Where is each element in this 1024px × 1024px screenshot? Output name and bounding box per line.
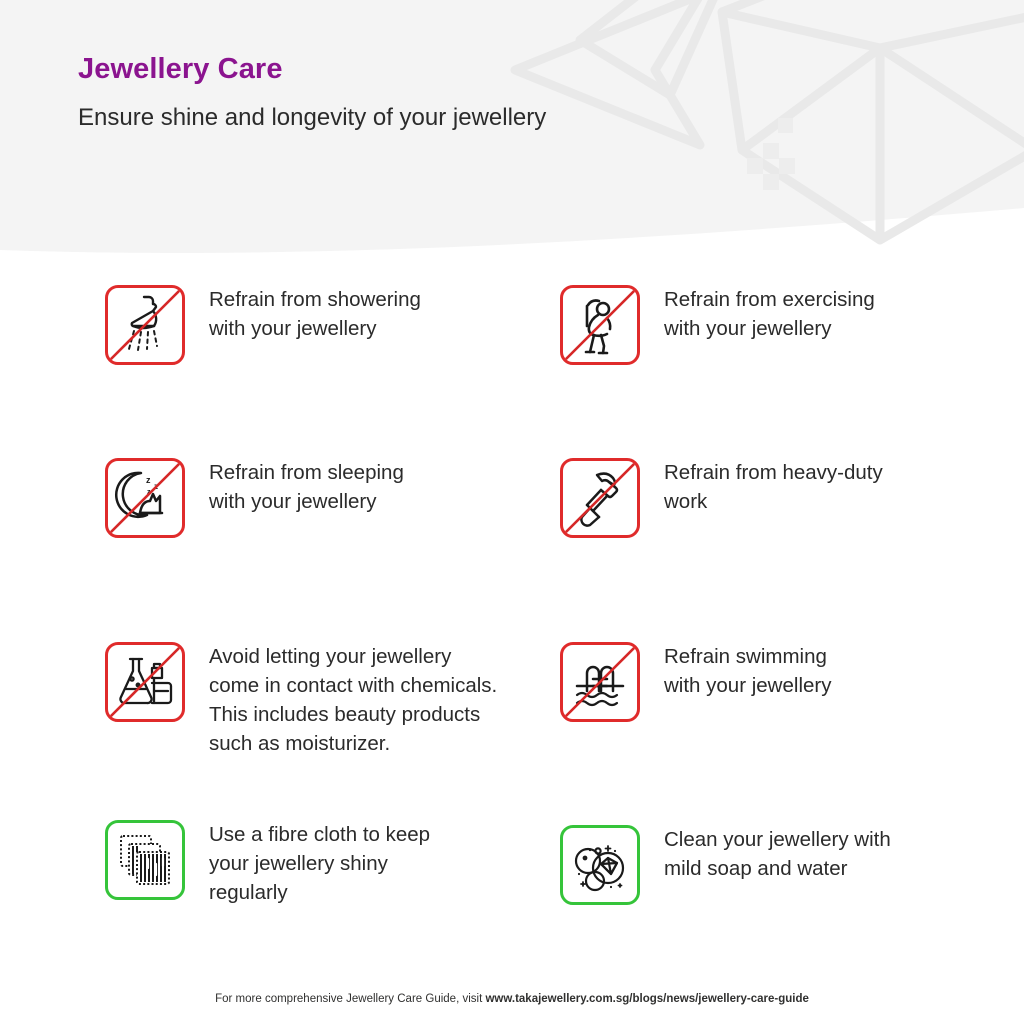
care-item-label: Refrain from exercising with your jewell… (640, 285, 875, 343)
care-item-label: Refrain from sleeping with your jeweller… (185, 458, 404, 516)
soap-bubbles-diamond-icon (560, 825, 640, 905)
strike-through-line (108, 461, 182, 535)
care-item-label: Avoid letting your jewellery come in con… (185, 642, 497, 758)
care-item-label: Use a fibre cloth to keep your jewellery… (185, 820, 430, 907)
pool-ladder-water-icon (560, 642, 640, 722)
header-banner: Jewellery Care Ensure shine and longevit… (0, 0, 1024, 270)
stacked-cloth-icon (105, 820, 185, 900)
footer-url[interactable]: www.takajewellery.com.sg/blogs/news/jewe… (485, 993, 808, 1005)
care-item-chemicals: Avoid letting your jewellery come in con… (105, 642, 497, 758)
strike-through-line (563, 461, 637, 535)
care-item-heavy-duty-work: Refrain from heavy-duty work (560, 458, 883, 538)
flask-spray-bottle-icon (105, 642, 185, 722)
sleeping-cat-moon-icon: z z z (105, 458, 185, 538)
strike-through-line (108, 288, 182, 362)
hammer-icon (560, 458, 640, 538)
care-item-exercising: Refrain from exercising with your jewell… (560, 285, 875, 365)
shower-head-icon (105, 285, 185, 365)
page-title: Jewellery Care (78, 52, 778, 87)
care-item-label: Clean your jewellery with mild soap and … (640, 825, 891, 883)
care-item-showering: Refrain from showering with your jewelle… (105, 285, 421, 365)
strike-through-line (108, 645, 182, 719)
diamond-watermark-icon (0, 0, 1024, 270)
care-item-label: Refrain from heavy-duty work (640, 458, 883, 516)
care-items-grid: Refrain from showering with your jewelle… (0, 270, 1024, 970)
care-item-label: Refrain from showering with your jewelle… (185, 285, 421, 343)
care-item-fibre-cloth: Use a fibre cloth to keep your jewellery… (105, 820, 430, 907)
page-subtitle: Ensure shine and longevity of your jewel… (78, 102, 778, 133)
footer-note: For more comprehensive Jewellery Care Gu… (0, 992, 1024, 1007)
care-item-mild-soap: Clean your jewellery with mild soap and … (560, 825, 891, 905)
strike-through-line (563, 645, 637, 719)
care-item-sleeping: z z z Refrain from sleeping with your je… (105, 458, 404, 538)
header-text-block: Jewellery Care Ensure shine and longevit… (78, 52, 778, 133)
care-item-swimming: Refrain swimming with your jewellery (560, 642, 831, 722)
care-item-label: Refrain swimming with your jewellery (640, 642, 831, 700)
exercising-person-icon (560, 285, 640, 365)
footer-prefix: For more comprehensive Jewellery Care Gu… (215, 993, 485, 1005)
strike-through-line (563, 288, 637, 362)
jewellery-care-infographic: Jewellery Care Ensure shine and longevit… (0, 0, 1024, 1024)
